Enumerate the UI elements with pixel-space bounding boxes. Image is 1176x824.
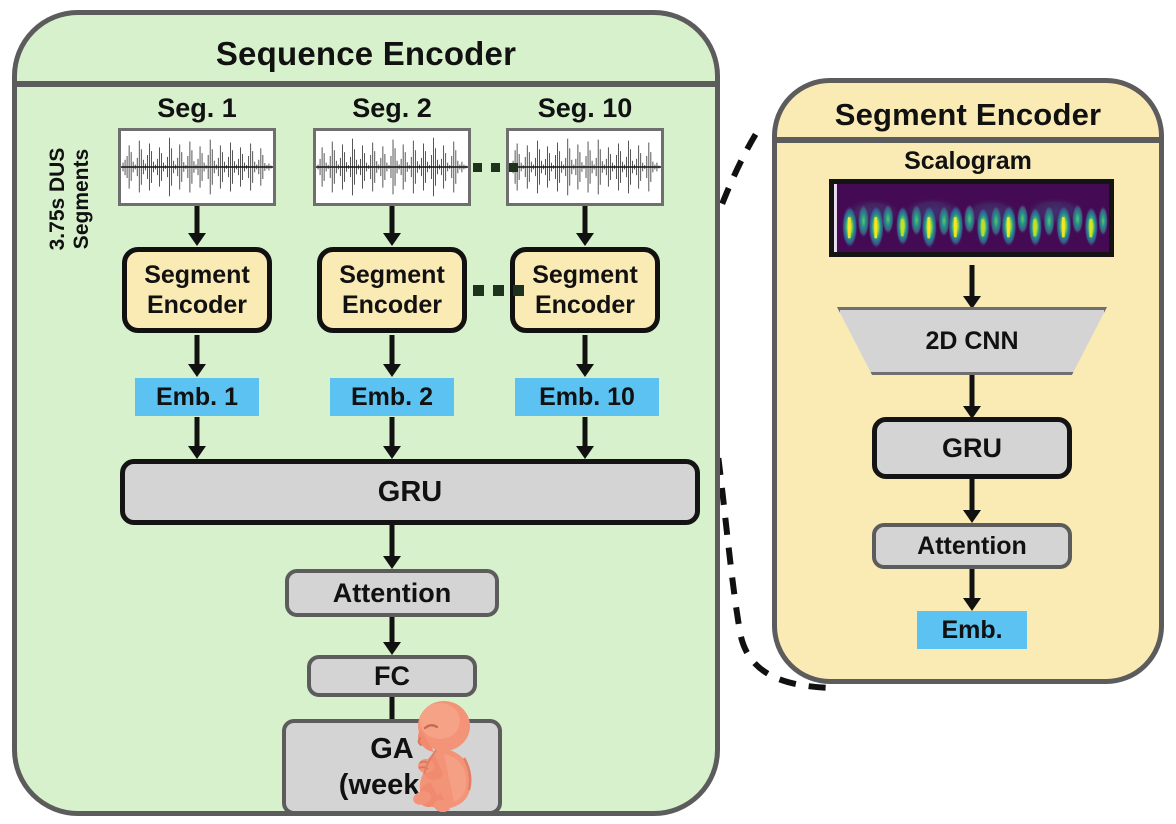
segment-encoder-box-2-line2: Encoder [342,291,442,319]
sequence-encoder-panel: Sequence Encoder 3.75s DUS Segments Seg.… [12,10,720,816]
segment-encoder-box-10-line2: Encoder [535,291,635,319]
segment-title-divider [777,137,1159,143]
sequence-gru-box[interactable]: GRU [120,459,700,525]
arrow-wave-to-encoder-1 [185,206,209,246]
cnn-trapezoid[interactable]: 2D CNN [837,307,1107,375]
encoder-ellipsis [473,285,524,296]
cnn-label: 2D CNN [837,307,1107,375]
waveform-box-10 [506,128,664,206]
dus-segments-side-label: 3.75s DUS Segments [46,104,94,294]
embedding-box-10: Emb. 10 [515,378,659,416]
arrow-wave-to-encoder-2 [380,206,404,246]
segment-encoder-box-2-line1: Segment [339,261,445,289]
arrow-segment-gru-to-attention [960,479,984,523]
segment-label-2: Seg. 2 [307,93,477,124]
arrow-wave-to-encoder-10 [573,206,597,246]
arrow-emb-to-gru-10 [573,417,597,459]
sequence-attention-box[interactable]: Attention [285,569,499,617]
arrow-encoder-to-emb-10 [573,335,597,377]
arrow-encoder-to-emb-2 [380,335,404,377]
segment-encoder-box-1-line1: Segment [144,261,250,289]
segment-label-10: Seg. 10 [500,93,670,124]
sequence-title-divider [17,81,715,87]
arrow-emb-to-gru-2 [380,417,404,459]
embedding-box-2: Emb. 2 [330,378,454,416]
arrow-scalogram-to-cnn [960,265,984,309]
segment-encoder-box-1[interactable]: Segment Encoder [122,247,272,333]
arrow-segment-attention-to-emb [960,569,984,611]
arrow-encoder-to-emb-1 [185,335,209,377]
segment-encoder-box-2[interactable]: Segment Encoder [317,247,467,333]
arrow-attention-to-fc [380,617,404,655]
segment-attention-box[interactable]: Attention [872,523,1072,569]
sequence-encoder-title: Sequence Encoder [17,35,715,73]
embedding-box-1: Emb. 1 [135,378,259,416]
segment-encoder-panel: Segment Encoder Scalogram [772,78,1164,684]
segment-encoder-box-1-line2: Encoder [147,291,247,319]
waveform-box-1 [118,128,276,206]
waveform-ellipsis [473,163,518,172]
segment-gru-box[interactable]: GRU [872,417,1072,479]
fetus-icon [398,700,490,812]
arrow-emb-to-gru-1 [185,417,209,459]
segment-embedding-box: Emb. [917,611,1027,649]
scalogram-label: Scalogram [777,147,1159,176]
segment-encoder-box-10[interactable]: Segment Encoder [510,247,660,333]
arrow-cnn-to-gru [960,375,984,419]
segment-label-1: Seg. 1 [112,93,282,124]
arrow-gru-to-attention [380,525,404,569]
sequence-fc-box[interactable]: FC [307,655,477,697]
segment-encoder-box-10-line1: Segment [532,261,638,289]
scalogram-image [829,179,1114,257]
segment-encoder-title: Segment Encoder [777,97,1159,133]
waveform-box-2 [313,128,471,206]
